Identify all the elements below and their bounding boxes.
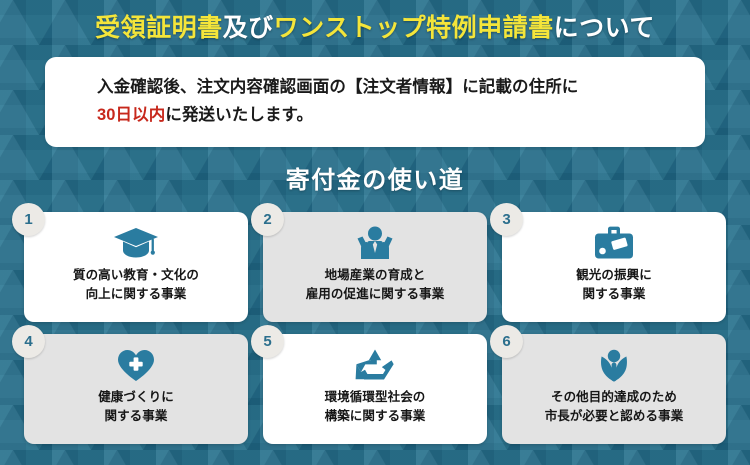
- title-segment-2: 及び: [223, 14, 274, 42]
- card-number-badge-1: 1: [12, 203, 45, 236]
- notice-line-2: 30日以内に発送いたします。: [97, 102, 705, 130]
- notice-line-2-rest: に発送いたします。: [165, 106, 313, 124]
- page-title: 受領証明書及びワンストップ特例申請書について: [95, 8, 655, 44]
- card-number-badge-3: 3: [490, 203, 523, 236]
- title-segment-4: について: [554, 14, 655, 42]
- donation-use-card-3[interactable]: 3 観光の振興に 関する事業: [502, 212, 726, 322]
- donation-use-label-5: 環境循環型社会の 構築に関する事業: [325, 388, 426, 426]
- donation-use-card-2[interactable]: 2 地場産業の育成と 雇用の促進に関する事業: [263, 212, 487, 322]
- donation-use-label-4: 健康づくりに 関する事業: [98, 388, 174, 426]
- card-number-badge-5: 5: [251, 325, 284, 358]
- donation-info-page: 受領証明書及びワンストップ特例申請書について 入金確認後、注文内容確認画面の【注…: [0, 0, 750, 465]
- shipping-notice-card: 入金確認後、注文内容確認画面の【注文者情報】に記載の住所に 30日以内に発送いた…: [45, 57, 705, 147]
- donation-use-card-grid: 1 質の高い教育・文化の 向上に関する事業 2: [24, 212, 726, 444]
- donation-use-label-6: その他目的達成のため 市長が必要と認める事業: [545, 388, 684, 426]
- section-heading-donation-uses: 寄付金の使い道: [0, 160, 750, 195]
- person-open-arms-icon: [595, 347, 633, 383]
- recycle-icon: [355, 347, 395, 383]
- donation-use-label-1: 質の高い教育・文化の 向上に関する事業: [73, 266, 199, 304]
- suitcase-icon: [593, 225, 635, 261]
- donation-use-label-3: 観光の振興に 関する事業: [576, 266, 652, 304]
- donation-use-card-4[interactable]: 4 健康づくりに 関する事業: [24, 334, 248, 444]
- graduation-cap-icon: [113, 225, 159, 261]
- title-segment-1: 受領証明書: [95, 14, 223, 42]
- notice-line-1: 入金確認後、注文内容確認画面の【注文者情報】に記載の住所に: [97, 74, 705, 102]
- person-raising-arms-icon: [354, 225, 396, 261]
- heart-plus-icon: [116, 347, 156, 383]
- title-segment-3: ワンストップ特例申請書: [274, 14, 554, 42]
- donation-use-card-6[interactable]: 6 その他目的達成のため 市長が必要と認める事業: [502, 334, 726, 444]
- donation-use-label-2: 地場産業の育成と 雇用の促進に関する事業: [306, 266, 445, 304]
- card-number-badge-2: 2: [251, 203, 284, 236]
- card-number-badge-4: 4: [12, 325, 45, 358]
- card-number-badge-6: 6: [490, 325, 523, 358]
- donation-use-card-1[interactable]: 1 質の高い教育・文化の 向上に関する事業: [24, 212, 248, 322]
- donation-use-card-5[interactable]: 5 環境循環型社会の 構築に関する事業: [263, 334, 487, 444]
- notice-emphasis-30days: 30日以内: [97, 106, 165, 124]
- page-header: 受領証明書及びワンストップ特例申請書について: [0, 0, 750, 52]
